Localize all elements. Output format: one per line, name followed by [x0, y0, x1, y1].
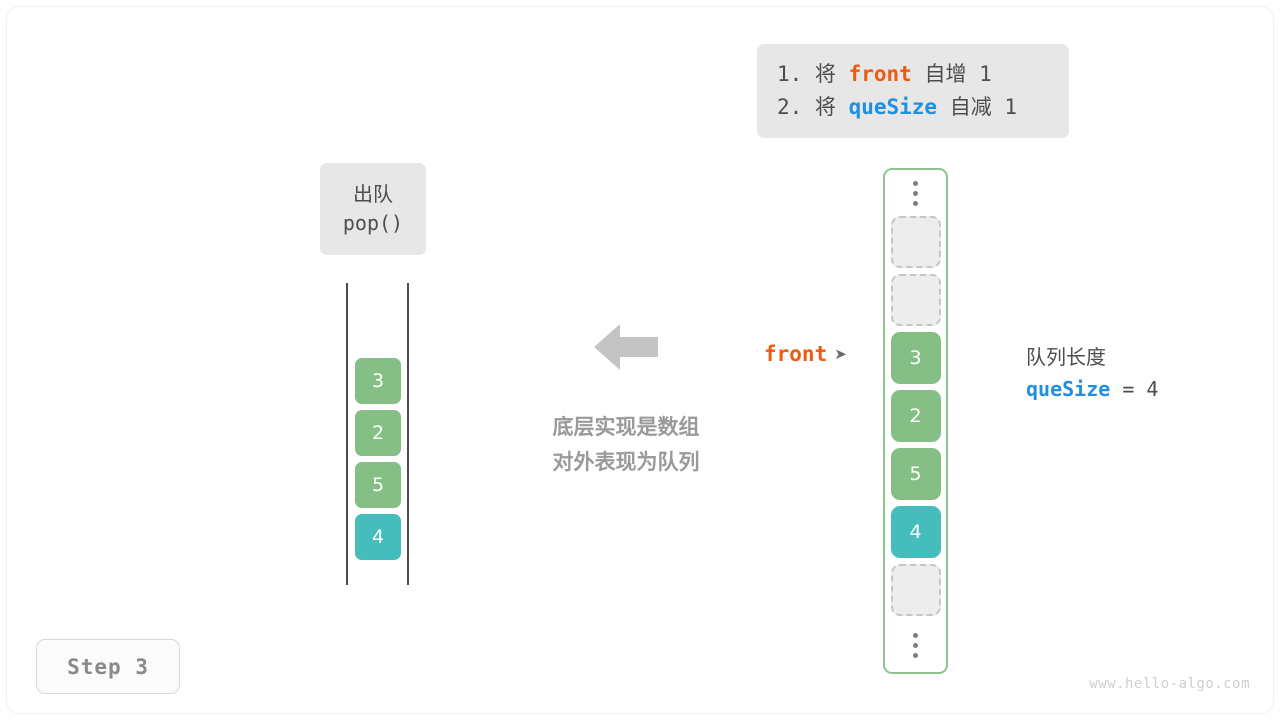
note-line-2: 2. 将 queSize 自减 1 — [777, 91, 1049, 124]
underlying-array-view: 3 2 5 4 — [883, 168, 948, 674]
queue-size-label: 队列长度 — [1026, 341, 1158, 373]
queue-size-equals: = — [1110, 377, 1146, 401]
step-badge: Step 3 — [36, 639, 180, 694]
logical-queue-cells: 3 2 5 4 — [355, 358, 401, 566]
note-line-2-prefix: 2. 将 — [777, 95, 849, 119]
array-cell: 4 — [891, 506, 941, 558]
queue-cell: 2 — [355, 410, 401, 456]
array-cell: 2 — [891, 390, 941, 442]
arrow-left-icon — [594, 323, 658, 371]
front-pointer-label: front — [764, 342, 827, 366]
operation-label-cn: 出队 — [353, 180, 393, 209]
note-line-1: 1. 将 front 自增 1 — [777, 58, 1049, 91]
note-line-1-code: front — [849, 62, 912, 86]
queue-cell: 4 — [355, 514, 401, 560]
steps-note-box: 1. 将 front 自增 1 2. 将 queSize 自减 1 — [757, 44, 1069, 138]
queue-size-expression: queSize = 4 — [1026, 373, 1158, 405]
queue-rail-left — [346, 283, 348, 585]
diagram-canvas: 1. 将 front 自增 1 2. 将 queSize 自减 1 出队 pop… — [0, 0, 1280, 720]
operation-label-code: pop() — [343, 209, 403, 238]
note-line-1-prefix: 1. 将 — [777, 62, 849, 86]
array-cell-empty — [891, 216, 941, 268]
center-caption-line-2: 对外表现为队列 — [498, 445, 754, 480]
queue-size-value: 4 — [1146, 377, 1158, 401]
array-cell-empty — [891, 564, 941, 616]
logical-queue-view: 3 2 5 4 — [340, 283, 416, 585]
note-line-2-suffix: 自减 1 — [937, 95, 1017, 119]
array-cell-empty — [891, 274, 941, 326]
watermark: www.hello-algo.com — [1089, 676, 1250, 692]
queue-rail-right — [407, 283, 409, 585]
center-caption-line-1: 底层实现是数组 — [498, 410, 754, 445]
vertical-ellipsis-icon-top — [913, 170, 918, 216]
note-line-2-code: queSize — [849, 95, 938, 119]
queue-size-annotation: 队列长度 queSize = 4 — [1026, 341, 1158, 405]
array-cell: 5 — [891, 448, 941, 500]
queue-cell: 5 — [355, 462, 401, 508]
queue-size-var: queSize — [1026, 377, 1110, 401]
front-pointer: front ➤ — [764, 342, 847, 366]
center-caption: 底层实现是数组 对外表现为队列 — [498, 410, 754, 480]
array-cell: 3 — [891, 332, 941, 384]
operation-label-box: 出队 pop() — [320, 163, 426, 255]
vertical-ellipsis-icon-bottom — [913, 622, 918, 668]
queue-cell: 3 — [355, 358, 401, 404]
note-line-1-suffix: 自增 1 — [912, 62, 992, 86]
arrow-right-icon: ➤ — [834, 347, 847, 362]
